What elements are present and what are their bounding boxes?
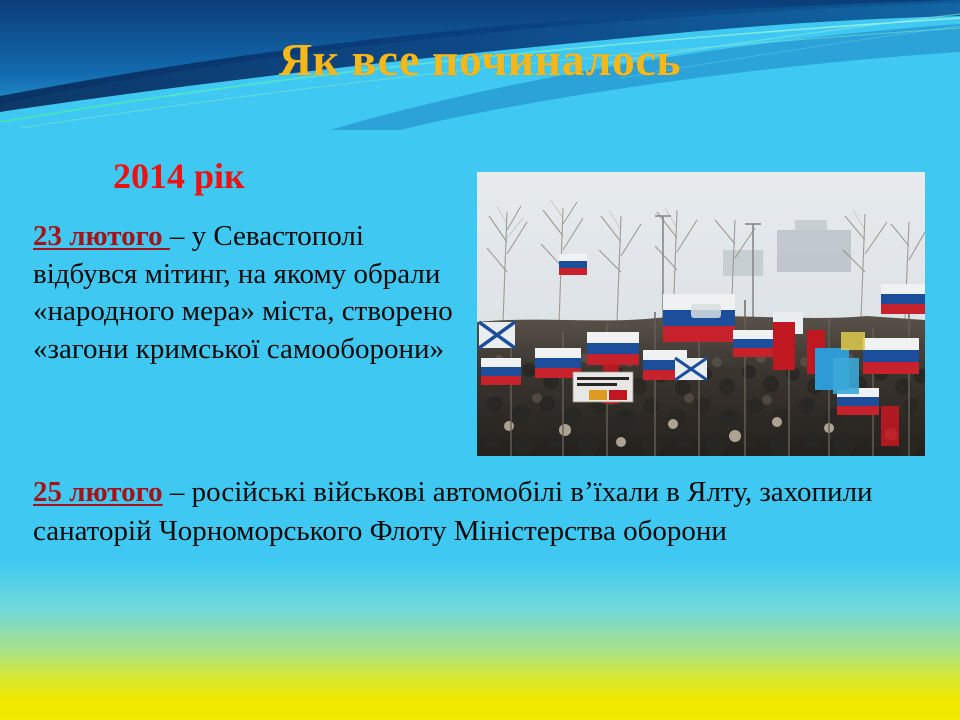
page-title: Як все починалось bbox=[0, 36, 960, 84]
paragraph-feb-23: 23 лютого – у Севастополі відбувся мітин… bbox=[33, 218, 463, 369]
date-label-feb-25: 25 лютого bbox=[33, 476, 163, 508]
rally-photo-graphic bbox=[477, 172, 925, 456]
year-heading: 2014 рік bbox=[113, 158, 245, 194]
paragraph-feb-25: 25 лютого – російські військові автомобі… bbox=[33, 473, 923, 550]
slide: Як все починалось 2014 рік 23 лютого – у… bbox=[0, 0, 960, 720]
rally-photo bbox=[477, 172, 925, 456]
date-label-feb-23: 23 лютого bbox=[33, 220, 170, 252]
